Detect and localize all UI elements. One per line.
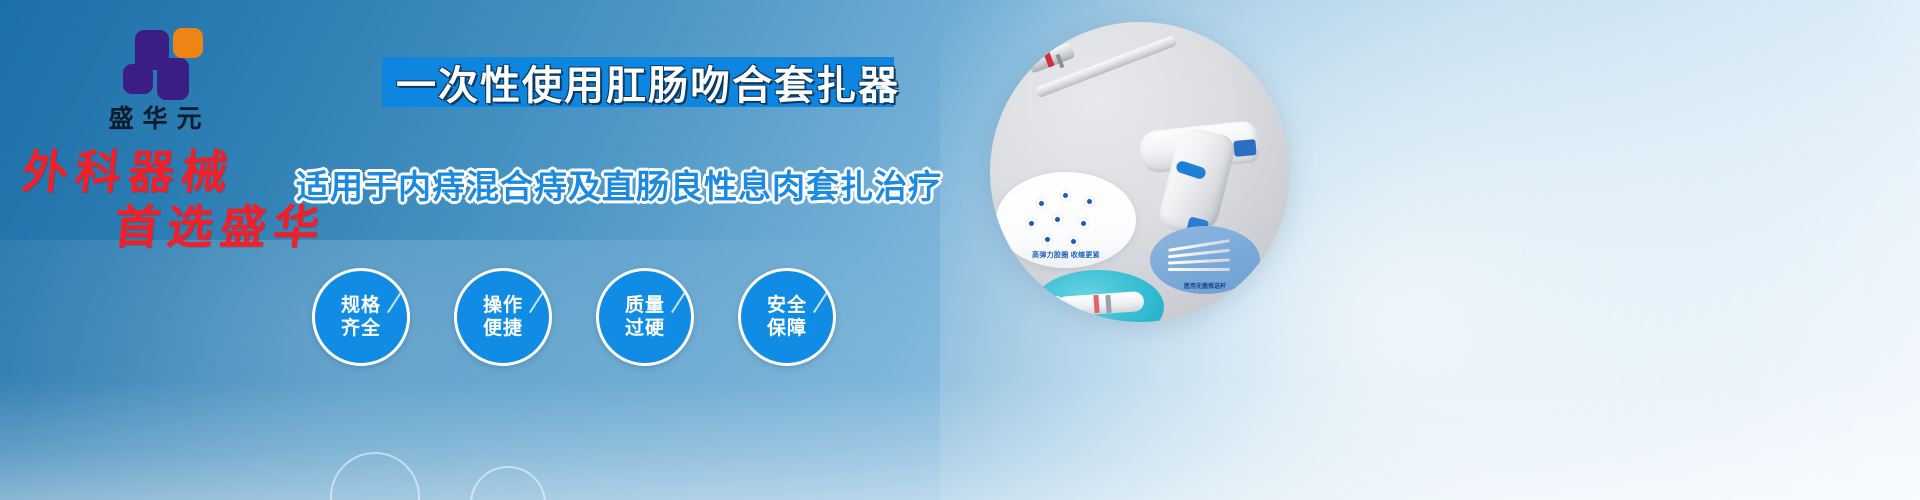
- slash-accent-icon: [813, 287, 831, 313]
- push-rod-icon: [1168, 268, 1230, 271]
- slash-accent-icon: [387, 287, 405, 313]
- feature-badge-3[interactable]: 质量 过硬: [596, 268, 694, 366]
- page-subtitle: 适用于内痔混合痔及直肠良性息肉套扎治疗: [296, 160, 916, 208]
- rubber-ring-icon: [1026, 218, 1037, 229]
- inset-push-rods: 医用无菌推送杆: [1150, 226, 1260, 294]
- bottom-fade-overlay: [0, 380, 1920, 500]
- sparkle-icon-3: [876, 86, 885, 89]
- feature-badge-4-line1: 安全: [767, 294, 807, 317]
- feature-badge-list: 规格 齐全 操作 便捷 质量 过硬 安全 保障: [312, 268, 836, 366]
- slash-accent-icon: [529, 287, 547, 313]
- inset-needles-caption: 医用无菌推送杆: [1150, 281, 1260, 290]
- decorative-circle-2: [470, 466, 546, 500]
- logo-mark-icon: [109, 28, 201, 100]
- feature-badge-2[interactable]: 操作 便捷: [454, 268, 552, 366]
- push-rod-icon: [1168, 258, 1230, 264]
- inset-rings-caption: 高弹力胶圈 收缩更紧: [996, 250, 1136, 260]
- rubber-ring-icon: [1084, 196, 1095, 207]
- rubber-ring-icon: [1052, 214, 1063, 225]
- decorative-circle-1: [330, 452, 420, 500]
- page-title: 一次性使用肛肠吻合套扎器: [388, 54, 908, 110]
- feature-badge-4-line2: 保障: [767, 317, 807, 340]
- logo-block-connector: [135, 52, 165, 70]
- inset-device-closeup: [1032, 270, 1164, 322]
- product-control-button: [1233, 139, 1256, 157]
- inset-rubber-rings: 高弹力胶圈 收缩更紧: [996, 172, 1136, 268]
- promo-banner: 盛华元 外科器械 首选盛华 一次性使用肛肠吻合套扎器 适用于内痔混合痔及直肠良性…: [0, 0, 1920, 500]
- feature-badge-2-line1: 操作: [483, 294, 523, 317]
- product-photo[interactable]: 高弹力胶圈 收缩更紧 医用无菌推送杆: [990, 22, 1290, 322]
- calligraphy-line-2: 首选盛华: [112, 205, 361, 252]
- rubber-ring-icon: [1060, 190, 1071, 201]
- sparkle-icon-2: [838, 88, 845, 90]
- brand-name: 盛华元: [60, 106, 250, 134]
- feature-badge-1-line1: 规格: [341, 294, 381, 317]
- feature-badge-2-line2: 便捷: [483, 317, 523, 340]
- feature-badge-4[interactable]: 安全 保障: [738, 268, 836, 366]
- rubber-ring-icon: [1042, 234, 1053, 245]
- logo-block-accent: [173, 28, 203, 58]
- feature-badge-3-line2: 过硬: [625, 317, 665, 340]
- sparkle-icon-1: [862, 66, 865, 69]
- brand-logo[interactable]: 盛华元: [60, 28, 250, 134]
- device-body: [1055, 291, 1144, 317]
- slash-accent-icon: [671, 287, 689, 313]
- rubber-ring-icon: [1036, 198, 1047, 209]
- product-shaft: [1034, 35, 1178, 99]
- feature-badge-1[interactable]: 规格 齐全: [312, 268, 410, 366]
- feature-badge-1-line2: 齐全: [341, 317, 381, 340]
- rubber-ring-icon: [1078, 218, 1089, 229]
- rubber-ring-icon: [1068, 236, 1079, 247]
- feature-badge-3-line1: 质量: [625, 294, 665, 317]
